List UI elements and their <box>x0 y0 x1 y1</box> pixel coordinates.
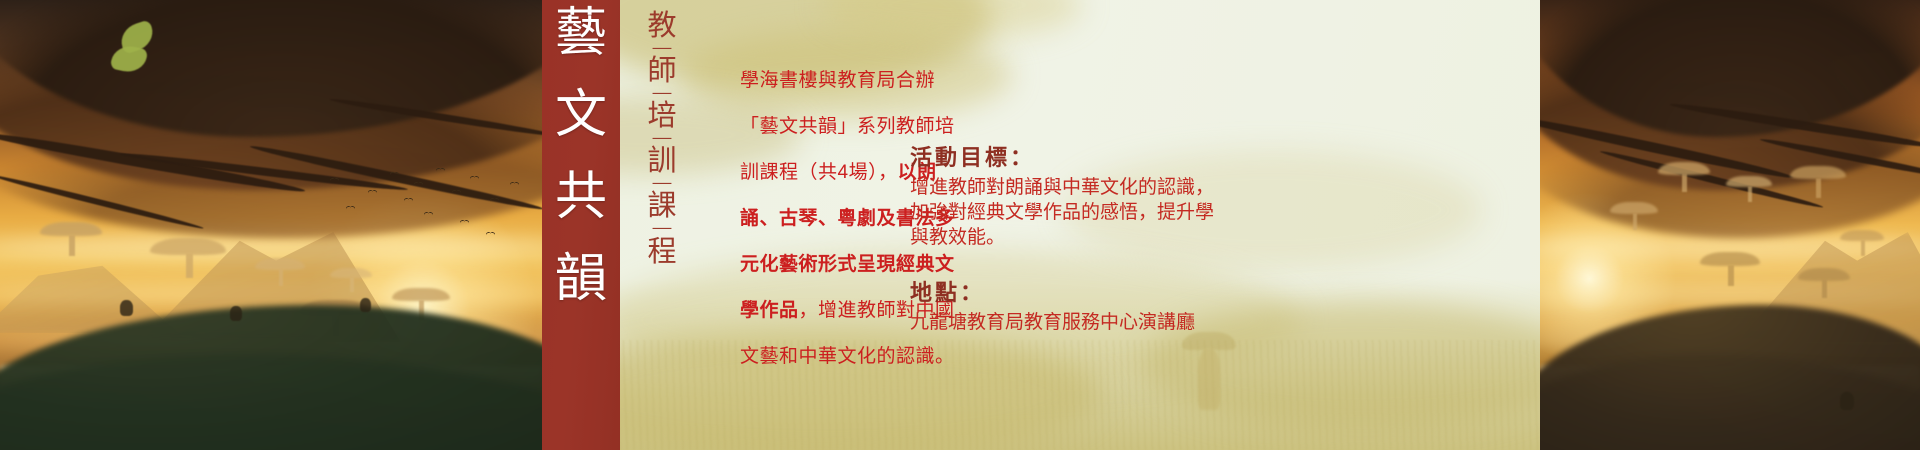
bird-icon <box>460 220 469 225</box>
subtitle-char-1: 教 <box>647 12 676 41</box>
goal-body: 增進教師對朗誦與中華文化的認識， 加強對經典文學作品的感悟，提升學 與教效能。 <box>910 175 1330 250</box>
acacia-tree <box>255 258 305 286</box>
bird-icon <box>390 172 399 177</box>
acacia-tree <box>1658 162 1710 192</box>
vertical-subtitle: 教 － 師 － 培 － 訓 － 課 － 程 <box>632 12 692 442</box>
bird-icon <box>452 190 461 195</box>
title-char-1: 藝 <box>555 8 607 60</box>
subtitle-char-4: 訓 <box>647 147 676 176</box>
right-landscape-artwork <box>1540 0 1920 450</box>
farmer-watermark <box>1182 332 1236 410</box>
intro-line-7: 文藝和中華文化的認識。 <box>740 334 1040 380</box>
acacia-tree <box>1726 176 1772 202</box>
title-char-3: 共 <box>555 172 607 224</box>
goal-line-2: 加強對經典文學作品的感悟，提升學 <box>910 200 1330 225</box>
venue-line-1: 九龍塘教育局教育服務中心演講廳 <box>910 310 1370 335</box>
acacia-tree <box>1700 252 1760 286</box>
subtitle-char-6: 程 <box>647 238 676 267</box>
bird-icon <box>404 198 413 203</box>
intro-line-1: 學海書樓與教育局合辦 <box>740 58 1040 104</box>
goal-heading: 活動目標： <box>910 140 1330 172</box>
acacia-tree <box>150 238 226 278</box>
center-content-panel: 藝 文 共 韻 教 － 師 － 培 － 訓 － 課 － 程 學海書樓與教育局合辦… <box>542 0 1540 450</box>
bird-icon <box>486 232 495 237</box>
event-venue-block: 地點： 九龍塘教育局教育服務中心演講廳 <box>910 275 1370 335</box>
figure-silhouette <box>120 300 133 316</box>
event-banner: 藝 文 共 韻 教 － 師 － 培 － 訓 － 課 － 程 學海書樓與教育局合辦… <box>0 0 1920 450</box>
bird-icon <box>414 182 423 187</box>
acacia-tree <box>1798 268 1850 298</box>
subtitle-separator: － <box>649 180 675 190</box>
acacia-tree <box>40 222 102 256</box>
title-char-2: 文 <box>555 90 607 142</box>
bird-icon <box>490 198 499 203</box>
figure-silhouette <box>1840 392 1854 410</box>
figure-silhouette <box>230 306 242 321</box>
venue-body: 九龍塘教育局教育服務中心演講廳 <box>910 310 1370 335</box>
bird-icon <box>346 206 355 211</box>
subtitle-char-3: 培 <box>647 102 676 131</box>
acacia-tree <box>330 268 372 292</box>
acacia-tree <box>1840 230 1884 256</box>
subtitle-char-5: 課 <box>647 192 676 221</box>
goal-line-1: 增進教師對朗誦與中華文化的認識， <box>910 175 1330 200</box>
bird-icon <box>436 168 445 173</box>
subtitle-separator: － <box>649 44 675 54</box>
subtitle-separator: － <box>649 134 675 144</box>
acacia-tree <box>1790 166 1846 198</box>
subtitle-char-2: 師 <box>647 57 676 86</box>
figure-silhouette <box>360 298 371 312</box>
bird-icon <box>330 178 339 183</box>
farmer-body <box>1198 348 1220 410</box>
event-goal-block: 活動目標： 增進教師對朗誦與中華文化的認識， 加強對經典文學作品的感悟，提升學 … <box>910 140 1330 250</box>
bird-icon <box>510 182 519 187</box>
goal-line-3: 與教效能。 <box>910 225 1330 250</box>
title-banner: 藝 文 共 韻 <box>542 0 620 450</box>
bird-icon <box>424 212 433 217</box>
intro-line-3-normal: 訓課程（共4場）， <box>740 162 898 183</box>
subtitle-separator: － <box>649 225 675 235</box>
intro-line-6-bold: 學作品 <box>740 300 799 321</box>
bird-icon <box>470 176 479 181</box>
subtitle-separator: － <box>649 89 675 99</box>
left-landscape-artwork <box>0 0 542 450</box>
title-char-4: 韻 <box>555 254 607 306</box>
venue-heading: 地點： <box>910 275 1370 307</box>
acacia-tree <box>1610 202 1658 230</box>
bird-icon <box>368 190 377 195</box>
